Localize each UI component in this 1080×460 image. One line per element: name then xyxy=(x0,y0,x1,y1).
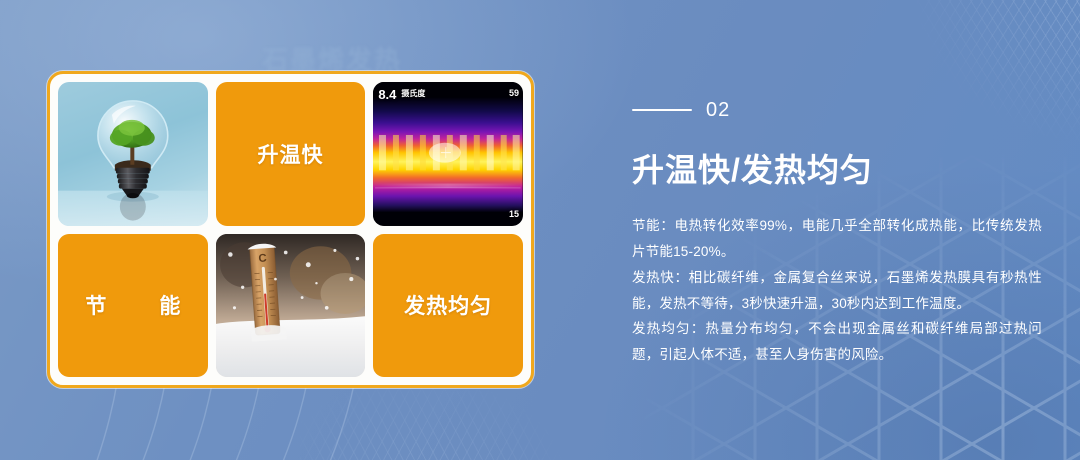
paragraph-energy-saving: 节能：电热转化效率99%，电能几乎全部转化成热能，比传统发热片节能15-20%。 xyxy=(632,213,1042,265)
slide-root: 石墨烯发热 xyxy=(0,0,1080,460)
content-column: 02 升温快/发热均匀 节能：电热转化效率99%，电能几乎全部转化成热能，比传统… xyxy=(632,98,1052,368)
paragraph-fast-heating: 发热快：相比碳纤维，金属复合丝来说，石墨烯发热膜具有秒热性能，发热不等待，3秒快… xyxy=(632,265,1042,317)
tile-even-heating: 发热均匀 xyxy=(373,234,523,378)
thermal-imaging-photo: 8.4 摄氏度 59 15 xyxy=(373,82,523,226)
background-watermark: 石墨烯发热 xyxy=(262,40,422,74)
tile-even-heating-label: 发热均匀 xyxy=(404,290,492,320)
tile-energy-saving-label: 节 能 xyxy=(69,290,196,320)
page-title: 升温快/发热均匀 xyxy=(632,152,1052,189)
body-copy: 节能：电热转化效率99%，电能几乎全部转化成热能，比传统发热片节能15-20%。… xyxy=(632,213,1042,368)
svg-text:C: C xyxy=(258,252,267,265)
section-eyebrow: 02 xyxy=(632,98,1052,122)
thermal-temperature-readout: 8.4 xyxy=(378,88,396,101)
thermal-unit-label: 摄氏度 xyxy=(401,90,425,98)
thermal-min-value: 15 xyxy=(509,210,519,219)
snow-scene-illustration: C xyxy=(216,234,366,378)
eco-lightbulb-photo xyxy=(58,82,208,226)
tile-fast-heating: 升温快 xyxy=(216,82,366,226)
tile-fast-heating-label: 升温快 xyxy=(257,139,323,169)
eyebrow-rule xyxy=(632,109,692,111)
tile-energy-saving: 节 能 xyxy=(58,234,208,378)
thermal-max-value: 59 xyxy=(509,89,519,98)
snow-thermometer-photo: C xyxy=(216,234,366,378)
section-number: 02 xyxy=(706,100,730,120)
collage-grid: 升温快 xyxy=(58,82,523,377)
lightbulb-illustration xyxy=(58,82,208,226)
paragraph-even-heating: 发热均匀：热量分布均匀，不会出现金属丝和碳纤维局部过热问题，引起人体不适，甚至人… xyxy=(632,316,1042,368)
thermal-heatmap xyxy=(373,82,523,226)
feature-collage-panel: 升温快 xyxy=(47,71,534,388)
